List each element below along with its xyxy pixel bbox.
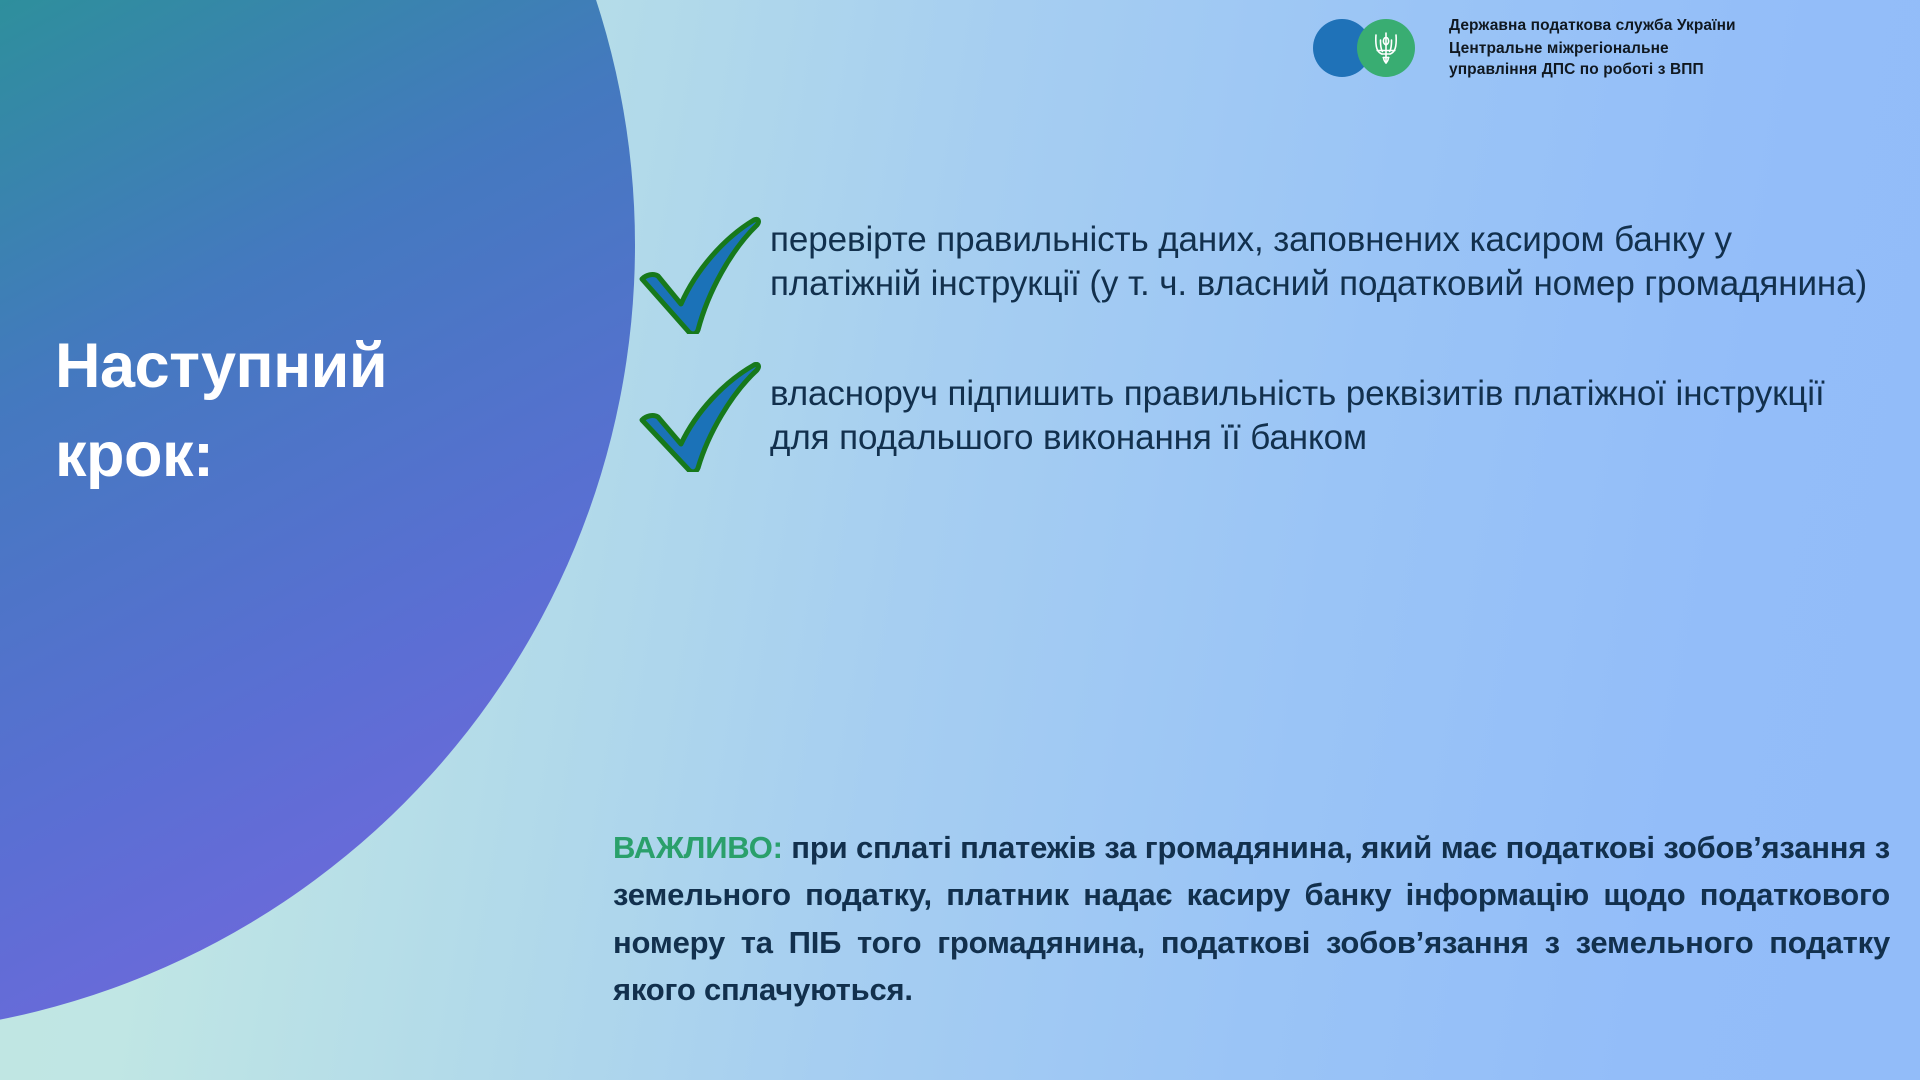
important-body: при сплаті платежів за громадянина, який… [613,830,1890,1007]
slide-canvas: Державна податкова служба України Центра… [0,0,1920,1080]
important-note: ВАЖЛИВО: при сплаті платежів за громадян… [613,824,1890,1014]
page-title: Наступний крок: [55,322,575,501]
list-item: власноруч підпишить правильність реквізи… [630,358,1890,472]
check-mark-icon [636,216,762,334]
important-label: ВАЖЛИВО: [613,830,783,865]
organization-logo-block: Державна податкова служба України Центра… [1313,16,1736,80]
hero-gradient-circle [0,0,635,1035]
organization-name: Державна податкова служба України Центра… [1449,16,1736,80]
page-title-line-2: крок: [55,411,575,500]
list-item-text: власноруч підпишить правильність реквізи… [762,358,1890,461]
list-item: перевірте правильність даних, заповнених… [630,208,1890,334]
check-mark-icon [636,362,762,472]
ukraine-trident-icon [1371,29,1401,67]
organization-line-2: Центральне міжрегіональне управління ДПС… [1449,39,1736,80]
bullet-list: перевірте правильність даних, заповнених… [630,208,1890,496]
organization-line-2b: управління ДПС по роботі з ВПП [1449,60,1736,80]
page-title-line-1: Наступний [55,322,575,411]
organization-line-1: Державна податкова служба України [1449,16,1736,36]
logo-green-circle-icon [1357,19,1415,77]
organization-line-2a: Центральне міжрегіональне [1449,39,1736,59]
list-item-text: перевірте правильність даних, заповнених… [762,208,1890,307]
logo-marks [1313,19,1441,77]
